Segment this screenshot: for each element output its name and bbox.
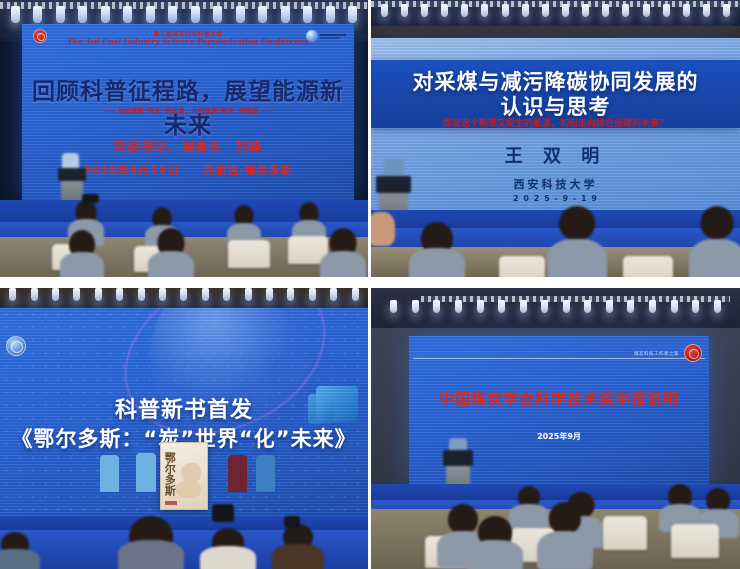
- slide1-subtitle: —— 讲好煤炭“昨天”的故事，共创能源“明天”的辉煌 ——: [22, 105, 354, 115]
- video-camera: [284, 516, 300, 528]
- audience-member: [60, 230, 104, 277]
- photo-collage-grid: 第三届煤炭行业科普大会 The 3rd Coal Industry Scienc…: [0, 0, 740, 569]
- ceremony-participant: [256, 448, 275, 492]
- phone-camera: [82, 194, 99, 203]
- led-screen-panel2: 对采煤与减污降碳协同发展的 认识与思考 煤炭这个熟悉又陌生的能源，如何走向绿色低…: [371, 38, 740, 210]
- stage-light-row: [0, 288, 368, 304]
- audience-member: [537, 502, 593, 569]
- slide2-affiliation: 西安科技大学: [371, 176, 740, 192]
- stage-light-row: [0, 6, 368, 26]
- ceremony-participant: [136, 446, 156, 492]
- stage-lamp: [78, 6, 87, 23]
- chair: [499, 256, 545, 277]
- stage-lamp: [258, 6, 267, 23]
- stage-lamp: [303, 6, 312, 23]
- photographer: [118, 516, 184, 569]
- stage-lamp: [11, 6, 20, 23]
- china-coal-society-emblem-icon: [684, 344, 702, 362]
- slide3-title: 科普新书首发: [0, 392, 368, 424]
- audience-member: [547, 206, 607, 277]
- slide2-speaker-name: 王 双 明: [371, 142, 740, 168]
- audience-member: [467, 516, 523, 569]
- stage-lamp: [236, 6, 245, 23]
- slide4-header: 煤炭科技工作者之家: [634, 351, 679, 357]
- photo-panel-bottom-right[interactable]: 煤炭科技工作者之家 中国煤炭学会科学技术奖申报说明 2025年9月: [371, 288, 740, 569]
- audience-member: [689, 206, 740, 277]
- stage-lamp: [326, 6, 335, 23]
- slide2-date: 2 0 2 5 - 9 - 1 9: [371, 194, 740, 203]
- conference-emblem-icon: [6, 336, 26, 356]
- slide4-rule: [413, 358, 705, 359]
- stage-lamp: [191, 6, 200, 23]
- stage-light-row: [371, 4, 740, 20]
- stage-lamp: [281, 6, 290, 23]
- slide-panel2: 对采煤与减污降碳协同发展的 认识与思考 煤炭这个熟悉又陌生的能源，如何走向绿色低…: [371, 38, 740, 210]
- conference-logo-icon: [306, 30, 346, 42]
- stage-lamp: [348, 6, 357, 23]
- conference-logo-bars: [320, 34, 346, 39]
- stage-lamp: [168, 6, 177, 23]
- audience-member: [409, 222, 465, 277]
- photo-panel-bottom-left[interactable]: 科普新书首发 《鄂尔多斯：“炭”世界“化”未来》 鄂尔多斯: [0, 288, 368, 569]
- chair: [623, 256, 673, 277]
- stage-light-row: [371, 300, 740, 318]
- new-book-cover: 鄂尔多斯: [160, 442, 208, 510]
- photographer: [200, 528, 256, 569]
- slide1-header-en: The 3rd Coal Industry Science Populariza…: [22, 37, 354, 46]
- chair: [228, 240, 270, 268]
- book-cover-title: 鄂尔多斯: [164, 452, 176, 496]
- chair: [671, 524, 719, 558]
- stage-lamp: [101, 6, 110, 23]
- audience-member: [320, 228, 366, 277]
- raised-hand: [371, 212, 395, 246]
- ceremony-participant: [100, 448, 119, 492]
- photographer: [272, 524, 324, 569]
- chair: [603, 516, 647, 550]
- audience-member: [0, 532, 40, 569]
- stage-lamp: [213, 6, 222, 23]
- slide4-title: 中国煤炭学会科学技术奖申报说明: [409, 388, 709, 409]
- stage-lamp: [146, 6, 155, 23]
- stage-lamp: [123, 6, 132, 23]
- slide2-subtitle: 煤炭这个熟悉又陌生的能源，如何走向绿色低碳的未来？: [371, 116, 740, 129]
- photo-panel-top-left[interactable]: 第三届煤炭行业科普大会 The 3rd Coal Industry Scienc…: [0, 0, 368, 277]
- stage-lamp: [56, 6, 65, 23]
- conference-logo-mark: [306, 30, 318, 42]
- ceremony-participant: [228, 448, 247, 492]
- stage-lamp: [33, 6, 42, 23]
- audience-member: [148, 228, 194, 277]
- video-camera: [212, 504, 234, 522]
- photo-panel-top-right[interactable]: 对采煤与减污降碳协同发展的 认识与思考 煤炭这个熟悉又陌生的能源，如何走向绿色低…: [371, 0, 740, 277]
